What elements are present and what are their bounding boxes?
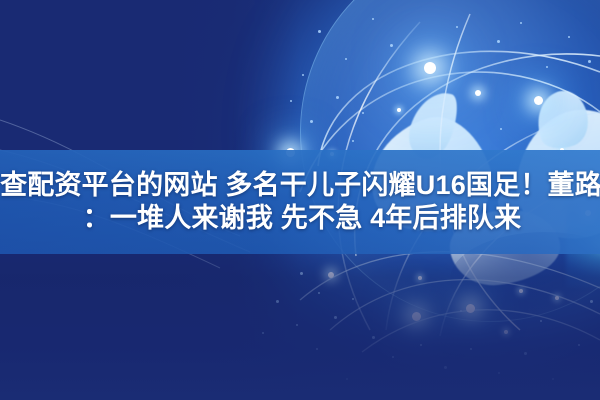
particle-dot <box>588 60 591 63</box>
headline-text: 查配资平台的网站 多名干儿子闪耀U16国足！董路 ：一堆人来谢我 先不急 4年后… <box>0 150 600 254</box>
particle-dot <box>546 66 548 68</box>
particle-dot <box>568 36 570 38</box>
particle-dot <box>456 26 458 28</box>
particle-dot <box>302 74 304 76</box>
particle-dot <box>290 100 292 102</box>
particle-dot <box>390 44 393 47</box>
glow-node <box>475 90 481 96</box>
headline-line-1: 查配资平台的网站 多名干儿子闪耀U16国足！董路 <box>0 170 600 201</box>
particle-dot <box>497 40 500 43</box>
particle-dot <box>372 18 374 20</box>
particle-dot <box>318 30 321 33</box>
headline-line-2: ：一堆人来谢我 先不急 4年后排队来 <box>79 203 522 234</box>
particle-dot <box>520 22 522 24</box>
particle-dot <box>310 120 313 123</box>
glow-node <box>424 62 436 74</box>
glow-node <box>534 96 543 105</box>
news-banner-image: 查配资平台的网站 多名干儿子闪耀U16国足！董路 ：一堆人来谢我 先不急 4年后… <box>0 0 600 400</box>
particle-dot <box>500 128 502 130</box>
glow-node <box>397 108 401 112</box>
particle-dot <box>336 96 339 99</box>
particle-dot <box>345 58 347 60</box>
particle-dot <box>352 140 354 142</box>
particle-dot <box>362 112 364 114</box>
